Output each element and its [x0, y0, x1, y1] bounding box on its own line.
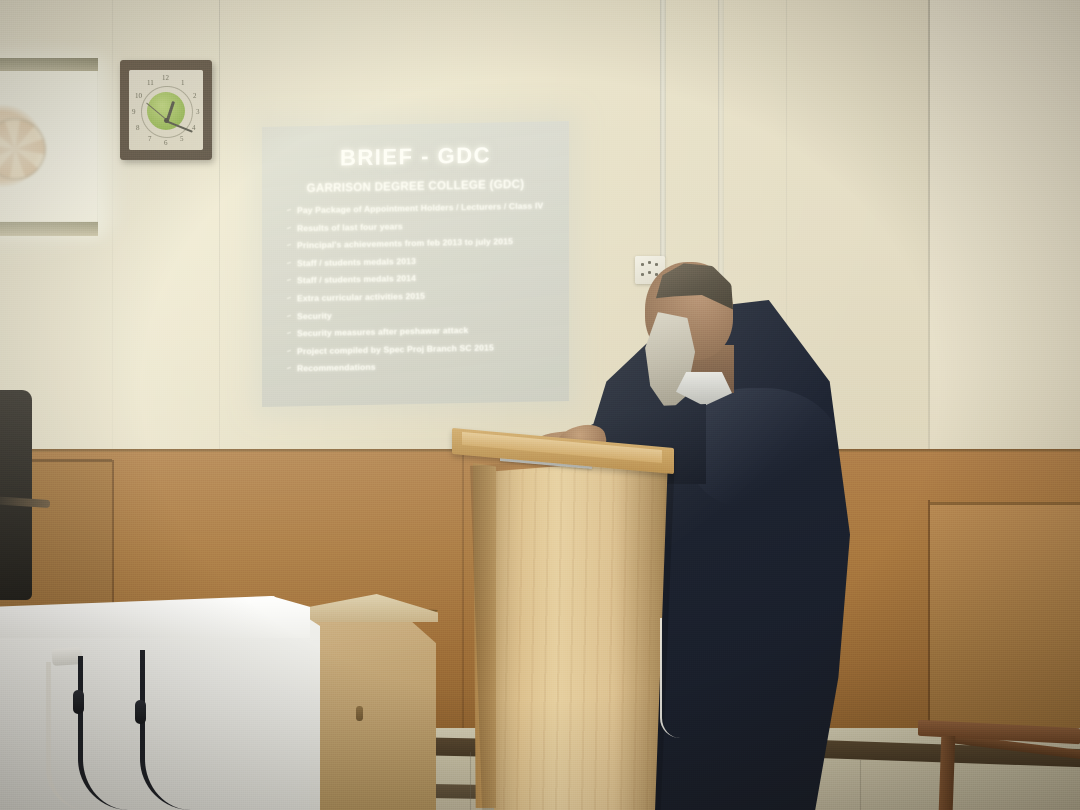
wainscot-seam: [462, 452, 464, 728]
socket-pin-hole: [641, 263, 644, 266]
slide-bullet: Staff / students medals 2014: [286, 271, 562, 286]
floor-tile-joint: [860, 760, 861, 810]
slide-bullet: Principal's achievements from feb 2013 t…: [286, 235, 562, 250]
projected-slide-screen: BRIEF - GDC GARRISON DEGREE COLLEGE (GDC…: [262, 121, 569, 407]
slide-bullet: Pay Package of Appointment Holders / Lec…: [286, 200, 562, 215]
clock-numeral: 3: [196, 108, 200, 116]
slide-subtitle: GARRISON DEGREE COLLEGE (GDC): [262, 178, 569, 196]
clock-numeral: 8: [136, 124, 140, 132]
podium-cable: [660, 618, 680, 738]
clock-numeral: 10: [135, 92, 142, 100]
data-projector: [38, 530, 310, 658]
clock-numeral: 2: [193, 92, 197, 100]
presenter-shoulder-highlight: [690, 388, 840, 508]
cable-ferrite-bead: [73, 690, 84, 714]
slide-bullet: Extra curricular activities 2015: [286, 288, 562, 303]
clock-numeral: 9: [132, 108, 136, 116]
vga-cable: [140, 650, 191, 810]
slide-bullet: Project compiled by Spec Proj Branch SC …: [286, 341, 562, 356]
slide-bullet: Security measures after peshawar attack: [286, 323, 562, 338]
wainscot-seam: [928, 500, 930, 730]
socket-pin-hole: [641, 273, 644, 276]
clock-face: 12 1 2 3 4 5 6 7 8 9 10 11: [129, 70, 203, 150]
clock-numeral: 1: [181, 79, 185, 87]
slide-title: BRIEF - GDC: [262, 141, 569, 173]
window-sill: [0, 222, 98, 236]
window-header: [0, 58, 98, 71]
dark-chair: [0, 390, 32, 600]
floor-tile-joint: [470, 752, 471, 810]
electrical-conduit: [718, 0, 724, 300]
wall-clock: 12 1 2 3 4 5 6 7 8 9 10 11: [120, 60, 212, 160]
slide-bullet: Recommendations: [286, 359, 562, 374]
slide-bullet: Security: [286, 306, 562, 321]
clock-numeral: 11: [147, 79, 154, 87]
vga-cable: [78, 656, 129, 810]
clock-numeral: 7: [148, 135, 152, 143]
slide-bullet: Staff / students medals 2013: [286, 253, 562, 268]
slide-bullet: Results of last four years: [286, 218, 562, 233]
cable-ferrite-bead: [135, 700, 146, 724]
clock-numeral: 12: [162, 74, 169, 82]
wainscot-panel-right: [930, 505, 1080, 745]
clock-numeral: 5: [180, 135, 184, 143]
socket-pin-hole: [655, 263, 658, 266]
podium-shading: [470, 455, 675, 810]
clock-center-pin: [164, 118, 169, 123]
bench-leg: [939, 736, 956, 810]
slide-bullet-list: Pay Package of Appointment Holders / Lec…: [286, 200, 562, 381]
socket-pin-hole: [648, 271, 651, 274]
wall-seam: [112, 0, 113, 470]
photo-scene: 12 1 2 3 4 5 6 7 8 9 10 11 BRIEF -: [0, 0, 1080, 810]
socket-pin-hole: [648, 261, 651, 264]
electrical-conduit: [660, 0, 666, 258]
slide-content: BRIEF - GDC GARRISON DEGREE COLLEGE (GDC…: [262, 121, 569, 407]
clock-numeral: 6: [164, 139, 168, 147]
cabinet-handle[interactable]: [356, 706, 363, 721]
wall-seam: [219, 0, 220, 460]
clock-center-disc: [147, 92, 185, 130]
